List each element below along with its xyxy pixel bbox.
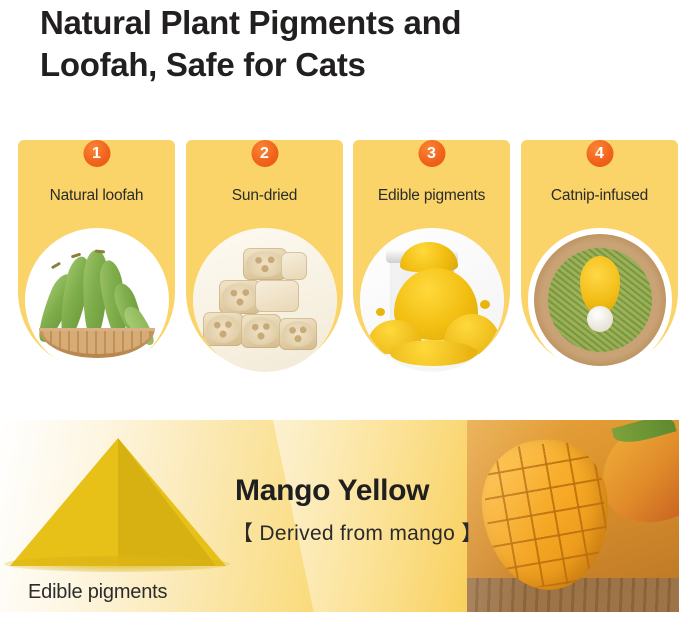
mango-cube-grid bbox=[480, 438, 612, 592]
feature-card-edible-pigments[interactable]: 3 Edible pigments bbox=[353, 140, 510, 370]
cat-toy-tip-shape bbox=[587, 306, 613, 332]
cubed-mango-half-shape bbox=[476, 434, 617, 596]
feature-card-label-1: Natural loofah bbox=[18, 187, 175, 205]
step-number-badge-4: 4 bbox=[586, 140, 613, 167]
powder-crumb bbox=[466, 348, 478, 357]
step-number-badge-2: 2 bbox=[251, 140, 278, 167]
banner-subtitle: 【 Derived from mango 】 bbox=[232, 517, 483, 547]
feature-card-row: 1 Natural loofah 2 Sun-dried bbox=[0, 120, 679, 390]
powder-pyramid-shadow bbox=[118, 438, 216, 566]
turmeric-powder-jar-photo bbox=[360, 228, 504, 372]
wicker-basket-shape bbox=[39, 328, 155, 358]
powder-crumb bbox=[480, 300, 490, 309]
powder-pyramid-base bbox=[4, 556, 230, 572]
sliced-mango-photo bbox=[467, 420, 679, 612]
loofah-slice bbox=[241, 314, 281, 348]
loofah-slice bbox=[279, 318, 317, 350]
feature-card-label-4: Catnip-infused bbox=[521, 187, 678, 205]
step-number-badge-1: 1 bbox=[83, 140, 110, 167]
loofah-slice bbox=[203, 312, 243, 346]
photo-clip bbox=[360, 228, 504, 372]
photo-clip bbox=[193, 228, 337, 372]
step-number-badge-3: 3 bbox=[418, 140, 445, 167]
mango-yellow-banner: Mango Yellow 【 Derived from mango 】 Edib… bbox=[0, 420, 679, 612]
banner-title: Mango Yellow bbox=[235, 474, 429, 508]
feature-card-catnip-infused[interactable]: 4 Catnip-infused bbox=[521, 140, 678, 370]
loofah-slice bbox=[281, 252, 307, 280]
page-title-line-2: Loofah, Safe for Cats bbox=[40, 44, 640, 86]
page-title-line-1: Natural Plant Pigments and bbox=[40, 2, 640, 44]
page-title: Natural Plant Pigments and Loofah, Safe … bbox=[40, 2, 640, 86]
gourd-stem bbox=[50, 262, 60, 270]
loofah-slice bbox=[255, 280, 299, 312]
loofah-gourds-in-basket-photo bbox=[25, 228, 169, 372]
dried-loofah-slices-photo bbox=[193, 228, 337, 372]
powder-crumb bbox=[376, 308, 385, 316]
photo-clip bbox=[25, 228, 169, 372]
feature-card-sun-dried[interactable]: 2 Sun-dried bbox=[186, 140, 343, 370]
feature-card-label-3: Edible pigments bbox=[353, 187, 510, 205]
feature-card-natural-loofah[interactable]: 1 Natural loofah bbox=[18, 140, 175, 370]
catnip-bowl-with-toy-photo bbox=[528, 228, 672, 372]
feature-card-label-2: Sun-dried bbox=[186, 187, 343, 205]
photo-clip bbox=[528, 228, 672, 372]
banner-caption: Edible pigments bbox=[28, 581, 167, 604]
powder-spill bbox=[390, 340, 476, 366]
